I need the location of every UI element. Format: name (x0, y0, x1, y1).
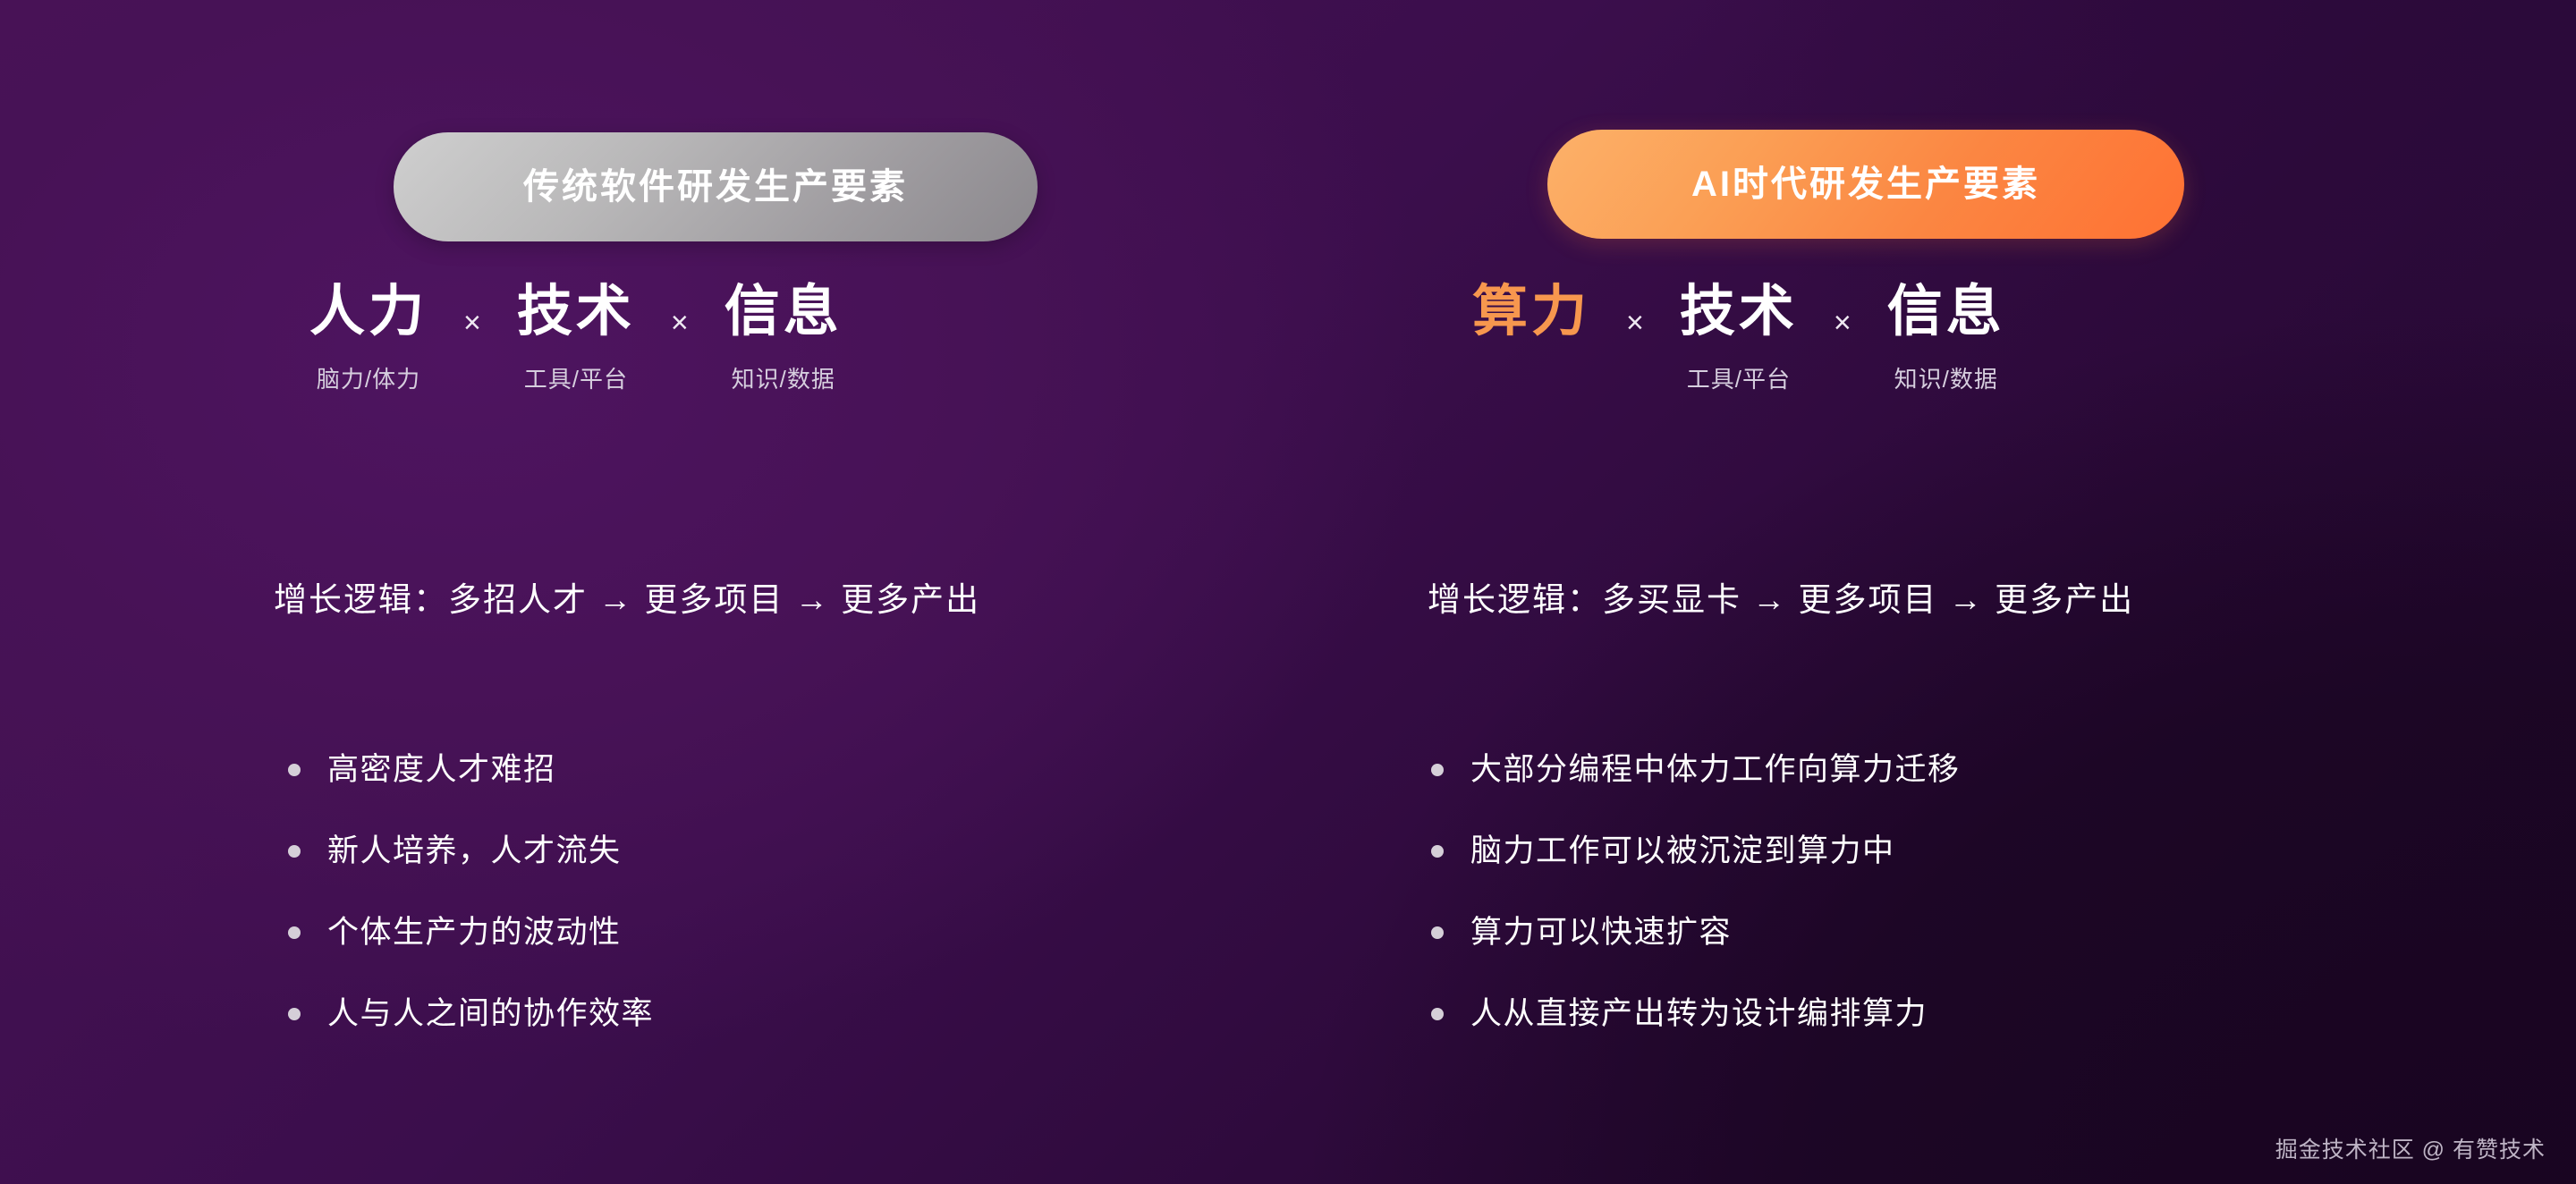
list-item: 新人培养，人才流失 (288, 810, 654, 892)
multiply-operator-icon: × (635, 308, 724, 338)
list-item-label: 人与人之间的协作效率 (327, 998, 654, 1029)
factor-information: 信息 知识/数据 (724, 284, 843, 394)
growth-logic-ai: 增长逻辑：多买显卡 → 更多项目 → 更多产出 (1428, 583, 2134, 616)
factor-information-title: 信息 (1887, 284, 2005, 340)
list-item-label: 人从直接产出转为设计编排算力 (1470, 998, 1928, 1029)
list-item-label: 新人培养，人才流失 (327, 835, 622, 867)
pill-ai-elements[interactable]: AI时代研发生产要素 (1547, 130, 2184, 239)
list-item: 算力可以快速扩容 (1431, 892, 1961, 973)
bullet-dot-icon (1431, 1008, 1444, 1020)
bullet-list-traditional: 高密度人才难招 新人培养，人才流失 个体生产力的波动性 人与人之间的协作效率 (288, 729, 654, 1054)
list-item-label: 高密度人才难招 (327, 754, 556, 785)
list-item: 高密度人才难招 (288, 729, 654, 810)
factor-technology-title: 技术 (517, 284, 635, 340)
formula-ai: 算力 × 技术 工具/平台 × 信息 知识/数据 (1472, 284, 2005, 394)
multiply-operator-icon: × (1798, 308, 1887, 338)
factor-technology: 技术 工具/平台 (1680, 284, 1798, 394)
list-item-label: 脑力工作可以被沉淀到算力中 (1470, 835, 1895, 867)
factor-compute: 算力 (1472, 284, 1590, 361)
list-item-label: 大部分编程中体力工作向算力迁移 (1470, 754, 1961, 785)
factor-manpower-sub: 脑力/体力 (317, 361, 420, 394)
list-item: 大部分编程中体力工作向算力迁移 (1431, 729, 1961, 810)
list-item-label: 算力可以快速扩容 (1470, 917, 1732, 948)
list-item-label: 个体生产力的波动性 (327, 917, 622, 948)
bullet-dot-icon (288, 926, 301, 939)
growth-logic-traditional: 增长逻辑：多招人才 → 更多项目 → 更多产出 (274, 583, 980, 616)
factor-information: 信息 知识/数据 (1887, 284, 2005, 394)
bullet-dot-icon (1431, 845, 1444, 858)
pill-traditional-elements[interactable]: 传统软件研发生产要素 (394, 132, 1038, 241)
bullet-dot-icon (288, 845, 301, 858)
bullet-dot-icon (1431, 926, 1444, 939)
factor-manpower: 人力 脑力/体力 (309, 284, 428, 394)
factor-compute-title: 算力 (1472, 284, 1590, 340)
factor-information-sub: 知识/数据 (732, 361, 835, 394)
factor-information-sub: 知识/数据 (1894, 361, 1998, 394)
bullet-dot-icon (288, 1008, 301, 1020)
multiply-operator-icon: × (428, 308, 517, 338)
list-item: 个体生产力的波动性 (288, 892, 654, 973)
list-item: 人与人之间的协作效率 (288, 973, 654, 1054)
multiply-operator-icon: × (1590, 308, 1680, 338)
list-item: 人从直接产出转为设计编排算力 (1431, 973, 1961, 1054)
pill-ai-label: AI时代研发生产要素 (1691, 166, 2040, 202)
pill-traditional-label: 传统软件研发生产要素 (523, 169, 908, 205)
slide-canvas: 传统软件研发生产要素 人力 脑力/体力 × 技术 工具/平台 × 信息 知识/数… (0, 0, 2576, 1184)
bullet-list-ai: 大部分编程中体力工作向算力迁移 脑力工作可以被沉淀到算力中 算力可以快速扩容 人… (1431, 729, 1961, 1054)
factor-technology-sub: 工具/平台 (1687, 361, 1791, 394)
factor-technology-sub: 工具/平台 (524, 361, 628, 394)
bullet-dot-icon (1431, 764, 1444, 776)
bullet-dot-icon (288, 764, 301, 776)
factor-manpower-title: 人力 (309, 284, 428, 340)
formula-traditional: 人力 脑力/体力 × 技术 工具/平台 × 信息 知识/数据 (309, 284, 843, 394)
watermark-credit: 掘金技术社区 @ 有赞技术 (2275, 1132, 2546, 1164)
list-item: 脑力工作可以被沉淀到算力中 (1431, 810, 1961, 892)
factor-technology: 技术 工具/平台 (517, 284, 635, 394)
factor-technology-title: 技术 (1680, 284, 1798, 340)
factor-information-title: 信息 (724, 284, 843, 340)
